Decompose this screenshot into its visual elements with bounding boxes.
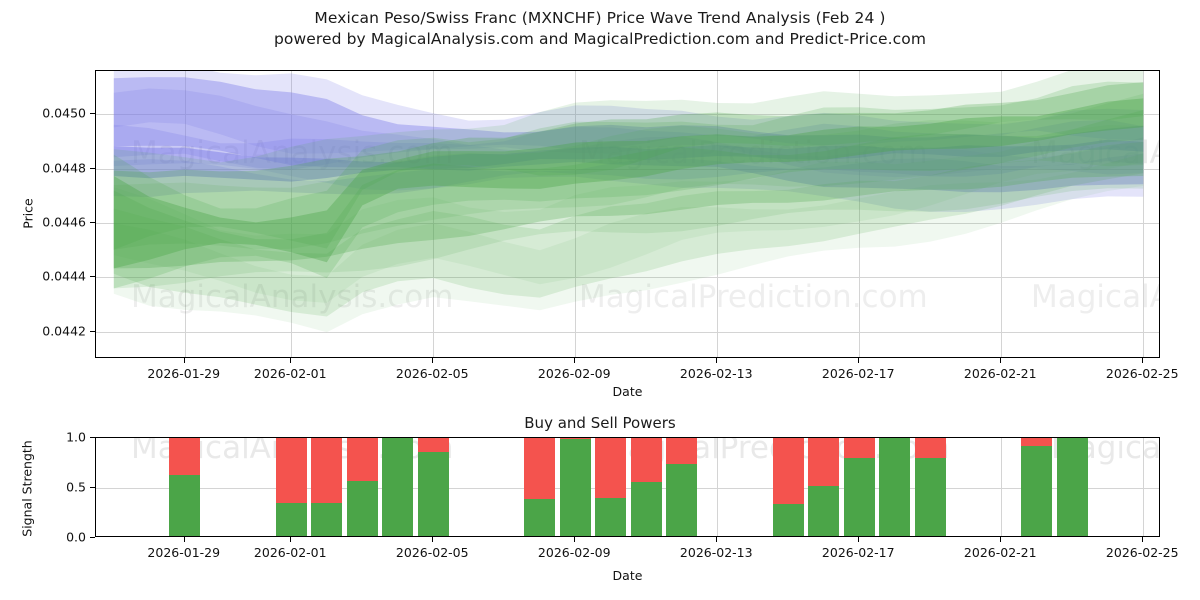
buy-power-segment xyxy=(311,503,342,536)
power-bar[interactable] xyxy=(631,437,662,536)
sell-power-segment xyxy=(276,437,307,503)
sell-power-segment xyxy=(1021,437,1052,446)
price-x-tick-mark xyxy=(184,358,185,363)
price-x-tick-mark xyxy=(1000,358,1001,363)
power-bar[interactable] xyxy=(1057,437,1088,536)
buy-power-segment xyxy=(1021,446,1052,536)
powers-gridline-v xyxy=(1001,438,1002,536)
powers-x-tick-mark xyxy=(574,537,575,542)
sell-power-segment xyxy=(631,437,662,482)
title-line-2: powered by MagicalAnalysis.com and Magic… xyxy=(0,29,1200,50)
power-bar[interactable] xyxy=(382,437,413,536)
power-bar[interactable] xyxy=(560,437,591,536)
price-y-tick-label: 0.0442 xyxy=(20,323,86,338)
buy-power-segment xyxy=(879,437,910,536)
powers-x-tick-mark xyxy=(290,537,291,542)
price-y-tick-label: 0.0448 xyxy=(20,160,86,175)
powers-y-tick-label: 1.0 xyxy=(32,430,86,445)
powers-y-tick-mark xyxy=(90,437,95,438)
title-line-1: Mexican Peso/Swiss Franc (MXNCHF) Price … xyxy=(0,8,1200,29)
price-x-tick-label: 2026-02-05 xyxy=(396,366,469,381)
price-x-tick-mark xyxy=(574,358,575,363)
powers-y-tick-mark xyxy=(90,487,95,488)
price-x-tick-mark xyxy=(290,358,291,363)
sell-power-segment xyxy=(595,437,626,498)
buy-power-segment xyxy=(418,452,449,536)
power-bar[interactable] xyxy=(844,437,875,536)
price-y-tick-mark xyxy=(90,222,95,223)
power-bar[interactable] xyxy=(808,437,839,536)
powers-gridline-h xyxy=(96,488,1159,489)
price-x-tick-mark xyxy=(858,358,859,363)
powers-gridline-v xyxy=(1143,438,1144,536)
buy-power-segment xyxy=(666,464,697,536)
price-x-tick-label: 2026-02-01 xyxy=(254,366,327,381)
buy-power-segment xyxy=(276,503,307,536)
power-bar[interactable] xyxy=(879,437,910,536)
powers-y-tick-label: 0.5 xyxy=(32,480,86,495)
power-bar[interactable] xyxy=(1021,437,1052,536)
buy-power-segment xyxy=(1057,437,1088,536)
power-bar[interactable] xyxy=(595,437,626,536)
price-y-tick-mark xyxy=(90,113,95,114)
power-bar[interactable] xyxy=(418,437,449,536)
sell-power-segment xyxy=(169,437,200,475)
power-bar[interactable] xyxy=(773,437,804,536)
buy-power-segment xyxy=(560,439,591,536)
powers-x-tick-mark xyxy=(858,537,859,542)
power-bar[interactable] xyxy=(311,437,342,536)
price-wave-plot: MagicalAnalysis.comMagicalPrediction.com… xyxy=(95,70,1160,358)
buy-power-segment xyxy=(844,458,875,536)
power-bar[interactable] xyxy=(666,437,697,536)
sell-power-segment xyxy=(347,437,378,481)
sell-power-segment xyxy=(808,437,839,486)
powers-x-tick-mark xyxy=(432,537,433,542)
price-x-tick-label: 2026-01-29 xyxy=(147,366,220,381)
price-x-tick-label: 2026-02-21 xyxy=(964,366,1037,381)
powers-y-axis-label: Signal Strength xyxy=(20,424,35,554)
powers-x-tick-mark xyxy=(184,537,185,542)
buy-power-segment xyxy=(382,437,413,536)
sell-power-segment xyxy=(915,437,946,458)
sell-power-segment xyxy=(844,437,875,458)
sell-power-segment xyxy=(311,437,342,503)
sell-power-segment xyxy=(773,437,804,504)
price-wave-bands xyxy=(96,71,1160,358)
buy-sell-powers-plot: MagicalAnalysis.comMagicalPrediction.com… xyxy=(95,437,1160,537)
sell-power-segment xyxy=(666,437,697,464)
price-y-tick-label: 0.0450 xyxy=(20,106,86,121)
buy-power-segment xyxy=(524,499,555,536)
buy-power-segment xyxy=(808,486,839,536)
price-y-axis-label: Price xyxy=(21,184,36,244)
powers-title: Buy and Sell Powers xyxy=(0,414,1200,432)
chart-page: Mexican Peso/Swiss Franc (MXNCHF) Price … xyxy=(0,0,1200,600)
price-x-tick-label: 2026-02-17 xyxy=(822,366,895,381)
buy-power-segment xyxy=(773,504,804,536)
powers-y-tick-mark xyxy=(90,537,95,538)
powers-x-tick-mark xyxy=(716,537,717,542)
price-x-tick-label: 2026-02-09 xyxy=(538,366,611,381)
powers-x-tick-label: 2026-02-09 xyxy=(538,545,611,560)
buy-power-segment xyxy=(595,498,626,536)
price-x-tick-label: 2026-02-25 xyxy=(1106,366,1179,381)
powers-y-tick-label: 0.0 xyxy=(32,530,86,545)
powers-x-tick-label: 2026-01-29 xyxy=(147,545,220,560)
price-x-tick-label: 2026-02-13 xyxy=(680,366,753,381)
sell-power-segment xyxy=(418,437,449,452)
price-x-tick-mark xyxy=(1142,358,1143,363)
price-y-tick-mark xyxy=(90,331,95,332)
sell-power-segment xyxy=(524,437,555,499)
buy-power-segment xyxy=(631,482,662,536)
price-y-tick-mark xyxy=(90,168,95,169)
powers-x-tick-label: 2026-02-05 xyxy=(396,545,469,560)
price-x-tick-mark xyxy=(716,358,717,363)
powers-x-tick-mark xyxy=(1142,537,1143,542)
powers-gridline-v xyxy=(717,438,718,536)
powers-x-axis-label: Date xyxy=(95,568,1160,583)
price-x-tick-mark xyxy=(432,358,433,363)
price-x-axis-label: Date xyxy=(95,384,1160,399)
buy-power-segment xyxy=(915,458,946,536)
powers-x-tick-label: 2026-02-21 xyxy=(964,545,1037,560)
powers-x-tick-mark xyxy=(1000,537,1001,542)
powers-x-tick-label: 2026-02-01 xyxy=(254,545,327,560)
buy-power-segment xyxy=(347,481,378,536)
buy-power-segment xyxy=(169,475,200,536)
power-bar[interactable] xyxy=(169,437,200,536)
price-y-tick-mark xyxy=(90,276,95,277)
powers-x-tick-label: 2026-02-25 xyxy=(1106,545,1179,560)
power-bar[interactable] xyxy=(915,437,946,536)
power-bar[interactable] xyxy=(276,437,307,536)
page-title: Mexican Peso/Swiss Franc (MXNCHF) Price … xyxy=(0,8,1200,50)
powers-x-tick-label: 2026-02-13 xyxy=(680,545,753,560)
price-y-tick-label: 0.0444 xyxy=(20,269,86,284)
power-bar[interactable] xyxy=(524,437,555,536)
power-bar[interactable] xyxy=(347,437,378,536)
powers-x-tick-label: 2026-02-17 xyxy=(822,545,895,560)
